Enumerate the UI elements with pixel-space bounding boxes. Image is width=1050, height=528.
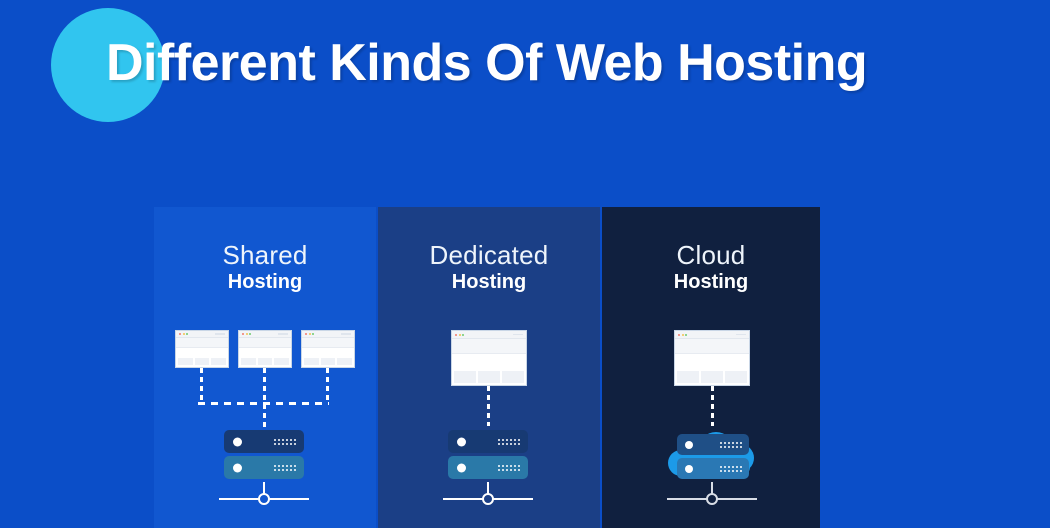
browser-header-band bbox=[302, 338, 354, 348]
browser-column bbox=[195, 358, 210, 365]
window-close-dot-icon bbox=[179, 333, 181, 335]
panel-dedicated-hosting-label: Hosting bbox=[378, 272, 600, 294]
browser-column bbox=[211, 358, 226, 365]
server-led-icon bbox=[457, 463, 466, 472]
window-minimize-dot-icon bbox=[459, 334, 461, 336]
panel-cloud-heading: Cloud Hosting bbox=[602, 241, 820, 294]
panel-cloud-hosting-label: Hosting bbox=[602, 272, 820, 294]
server-dot-grid-icon bbox=[498, 465, 520, 471]
browser-column bbox=[258, 358, 273, 365]
panel-dedicated-kind: Dedicated bbox=[378, 241, 600, 269]
server-rack-unit-top bbox=[224, 430, 304, 453]
window-close-dot-icon bbox=[305, 333, 307, 335]
browser-column bbox=[321, 358, 336, 365]
browser-column bbox=[502, 371, 524, 383]
dashed-connector-vertical bbox=[263, 404, 266, 432]
page-title: Different Kinds Of Web Hosting bbox=[106, 33, 867, 93]
server-dot-grid-icon bbox=[498, 439, 520, 445]
browser-addressbar-icon bbox=[513, 334, 523, 336]
server-led-icon bbox=[233, 437, 242, 446]
server-rack-unit-top bbox=[677, 434, 749, 455]
server-rack-icon bbox=[677, 434, 749, 480]
dashed-connector-vertical bbox=[326, 368, 329, 404]
browser-content-area bbox=[302, 348, 354, 357]
browser-content-area bbox=[452, 354, 526, 371]
browser-content-area bbox=[176, 348, 228, 357]
browser-column-blocks bbox=[675, 371, 749, 385]
dashed-connector-vertical bbox=[711, 386, 714, 426]
browser-content-area bbox=[675, 354, 749, 371]
browser-window-icon bbox=[674, 330, 750, 386]
server-dot-grid-icon bbox=[720, 442, 742, 448]
server-led-icon bbox=[457, 437, 466, 446]
server-rack-icon bbox=[224, 430, 304, 480]
window-close-dot-icon bbox=[678, 334, 680, 336]
browser-header-band bbox=[176, 338, 228, 348]
panel-cloud-kind: Cloud bbox=[602, 241, 820, 269]
dashed-connector-vertical bbox=[263, 368, 266, 404]
server-dot-grid-icon bbox=[720, 466, 742, 472]
connector-node-circle bbox=[706, 493, 718, 505]
window-maximize-dot-icon bbox=[249, 333, 251, 335]
window-minimize-dot-icon bbox=[682, 334, 684, 336]
browser-addressbar-icon bbox=[278, 333, 288, 335]
browser-window-icon bbox=[451, 330, 527, 386]
window-maximize-dot-icon bbox=[312, 333, 314, 335]
browser-column bbox=[178, 358, 193, 365]
connector-node-circle bbox=[258, 493, 270, 505]
browser-addressbar-icon bbox=[736, 334, 746, 336]
cloud-server-icon bbox=[668, 426, 756, 484]
browser-addressbar-icon bbox=[215, 333, 225, 335]
browser-window-icon bbox=[238, 330, 292, 368]
panel-shared-heading: Shared Hosting bbox=[154, 241, 376, 294]
browser-column bbox=[701, 371, 723, 383]
window-close-dot-icon bbox=[242, 333, 244, 335]
browser-column bbox=[478, 371, 500, 383]
browser-column-blocks bbox=[239, 358, 291, 367]
panel-shared-hosting-label: Hosting bbox=[154, 272, 376, 294]
browser-header-band bbox=[239, 338, 291, 348]
server-dot-grid-icon bbox=[274, 439, 296, 445]
window-close-dot-icon bbox=[455, 334, 457, 336]
window-minimize-dot-icon bbox=[309, 333, 311, 335]
server-rack-unit-top bbox=[448, 430, 528, 453]
server-dot-grid-icon bbox=[274, 465, 296, 471]
browser-titlebar bbox=[176, 331, 228, 338]
window-maximize-dot-icon bbox=[685, 334, 687, 336]
server-rack-icon bbox=[448, 430, 528, 480]
browser-titlebar bbox=[239, 331, 291, 338]
window-maximize-dot-icon bbox=[462, 334, 464, 336]
browser-window-icon bbox=[175, 330, 229, 368]
server-led-icon bbox=[685, 441, 693, 449]
panel-dedicated-heading: Dedicated Hosting bbox=[378, 241, 600, 294]
browser-titlebar bbox=[452, 331, 526, 339]
browser-column bbox=[274, 358, 289, 365]
browser-column bbox=[677, 371, 699, 383]
browser-column bbox=[337, 358, 352, 365]
browser-column-blocks bbox=[302, 358, 354, 367]
browser-column bbox=[725, 371, 747, 383]
infographic-canvas: Different Kinds Of Web Hosting Shared Ho… bbox=[0, 0, 1050, 528]
connector-node-circle bbox=[482, 493, 494, 505]
network-node-connector bbox=[667, 482, 757, 512]
window-minimize-dot-icon bbox=[183, 333, 185, 335]
browser-header-band bbox=[675, 339, 749, 354]
browser-window-icon bbox=[301, 330, 355, 368]
panel-shared-kind: Shared bbox=[154, 241, 376, 269]
server-rack-unit-bottom bbox=[448, 456, 528, 479]
browser-content-area bbox=[239, 348, 291, 357]
browser-column bbox=[454, 371, 476, 383]
browser-column bbox=[241, 358, 256, 365]
browser-titlebar bbox=[302, 331, 354, 338]
server-rack-unit-bottom bbox=[224, 456, 304, 479]
dashed-connector-vertical bbox=[200, 368, 203, 404]
window-maximize-dot-icon bbox=[186, 333, 188, 335]
browser-addressbar-icon bbox=[341, 333, 351, 335]
window-minimize-dot-icon bbox=[246, 333, 248, 335]
dashed-connector-vertical bbox=[487, 386, 490, 426]
browser-header-band bbox=[452, 339, 526, 354]
server-rack-unit-bottom bbox=[677, 458, 749, 479]
browser-column-blocks bbox=[452, 371, 526, 385]
server-led-icon bbox=[233, 463, 242, 472]
network-node-connector bbox=[219, 482, 309, 512]
server-led-icon bbox=[685, 465, 693, 473]
browser-column bbox=[304, 358, 319, 365]
network-node-connector bbox=[443, 482, 533, 512]
browser-titlebar bbox=[675, 331, 749, 339]
browser-column-blocks bbox=[176, 358, 228, 367]
